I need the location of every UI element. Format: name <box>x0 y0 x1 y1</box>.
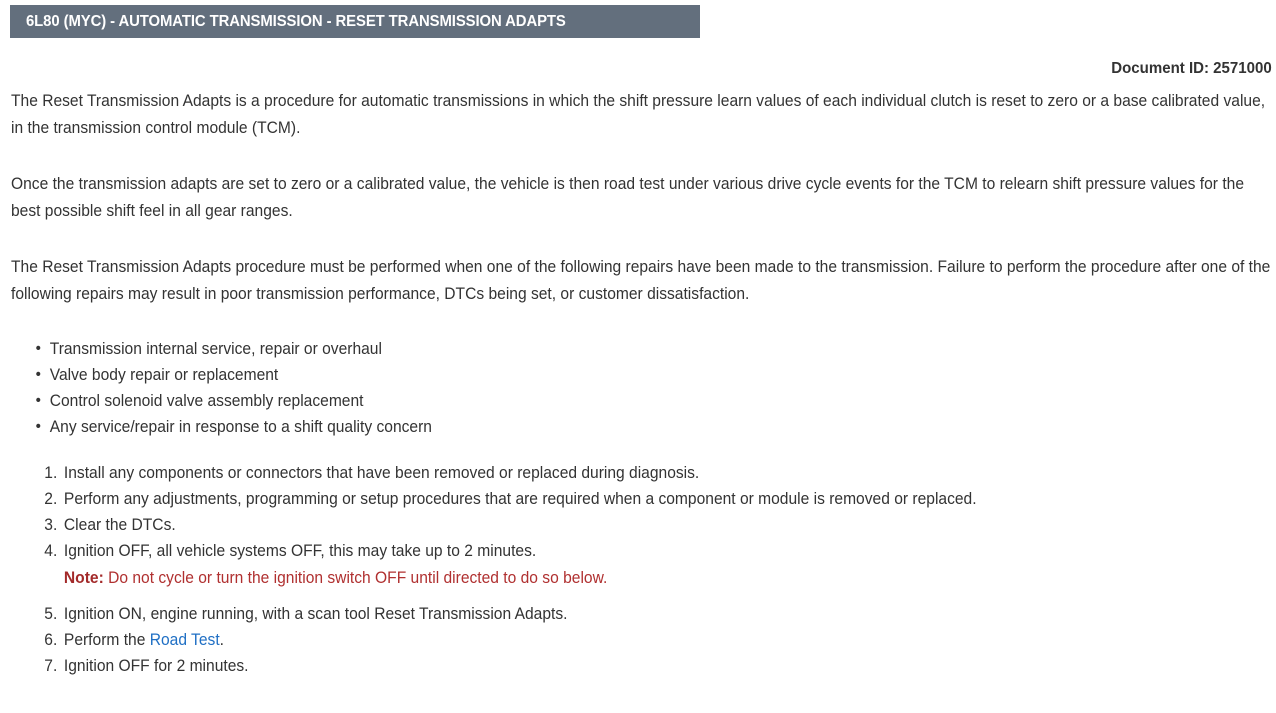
step-prefix: Perform the <box>64 631 150 649</box>
repair-conditions-list: Transmission internal service, repair or… <box>11 336 1276 440</box>
step-item: Ignition OFF, all vehicle systems OFF, t… <box>38 538 1271 564</box>
step-item: Ignition OFF for 2 minutes. <box>38 653 1271 679</box>
step-item-road-test: Perform the Road Test. <box>38 627 1271 653</box>
note-callout: Note: Do not cycle or turn the ignition … <box>38 564 1271 591</box>
document-body: The Reset Transmission Adapts is a proce… <box>11 88 1273 679</box>
paragraph-intro: The Reset Transmission Adapts is a proce… <box>11 88 1272 142</box>
list-item: Any service/repair in response to a shif… <box>50 414 1276 440</box>
step-suffix: . <box>220 631 224 649</box>
step-item: Clear the DTCs. <box>38 512 1271 538</box>
document-page: 6L80 (MYC) - AUTOMATIC TRANSMISSION - RE… <box>0 0 1276 713</box>
note-body: Do not cycle or turn the ignition switch… <box>108 569 607 587</box>
paragraph-roadtest: Once the transmission adapts are set to … <box>11 171 1272 225</box>
list-item: Transmission internal service, repair or… <box>50 336 1276 362</box>
step-item: Ignition ON, engine running, with a scan… <box>38 601 1271 627</box>
list-item: Control solenoid valve assembly replacem… <box>50 388 1276 414</box>
paragraph-when-required: The Reset Transmission Adapts procedure … <box>11 254 1272 308</box>
list-spacer <box>11 440 1273 460</box>
note-spacer <box>11 591 1272 601</box>
procedure-steps-list: Install any components or connectors tha… <box>11 460 1272 679</box>
note-label: Note: <box>64 569 104 587</box>
step-item: Install any components or connectors tha… <box>38 460 1271 486</box>
document-id: Document ID: 2571000 <box>1112 60 1272 78</box>
document-title-bar: 6L80 (MYC) - AUTOMATIC TRANSMISSION - RE… <box>10 5 700 38</box>
road-test-link[interactable]: Road Test <box>150 631 220 649</box>
step-item: Perform any adjustments, programming or … <box>38 486 1271 512</box>
page-title: 6L80 (MYC) - AUTOMATIC TRANSMISSION - RE… <box>26 13 566 31</box>
list-item: Valve body repair or replacement <box>50 362 1276 388</box>
